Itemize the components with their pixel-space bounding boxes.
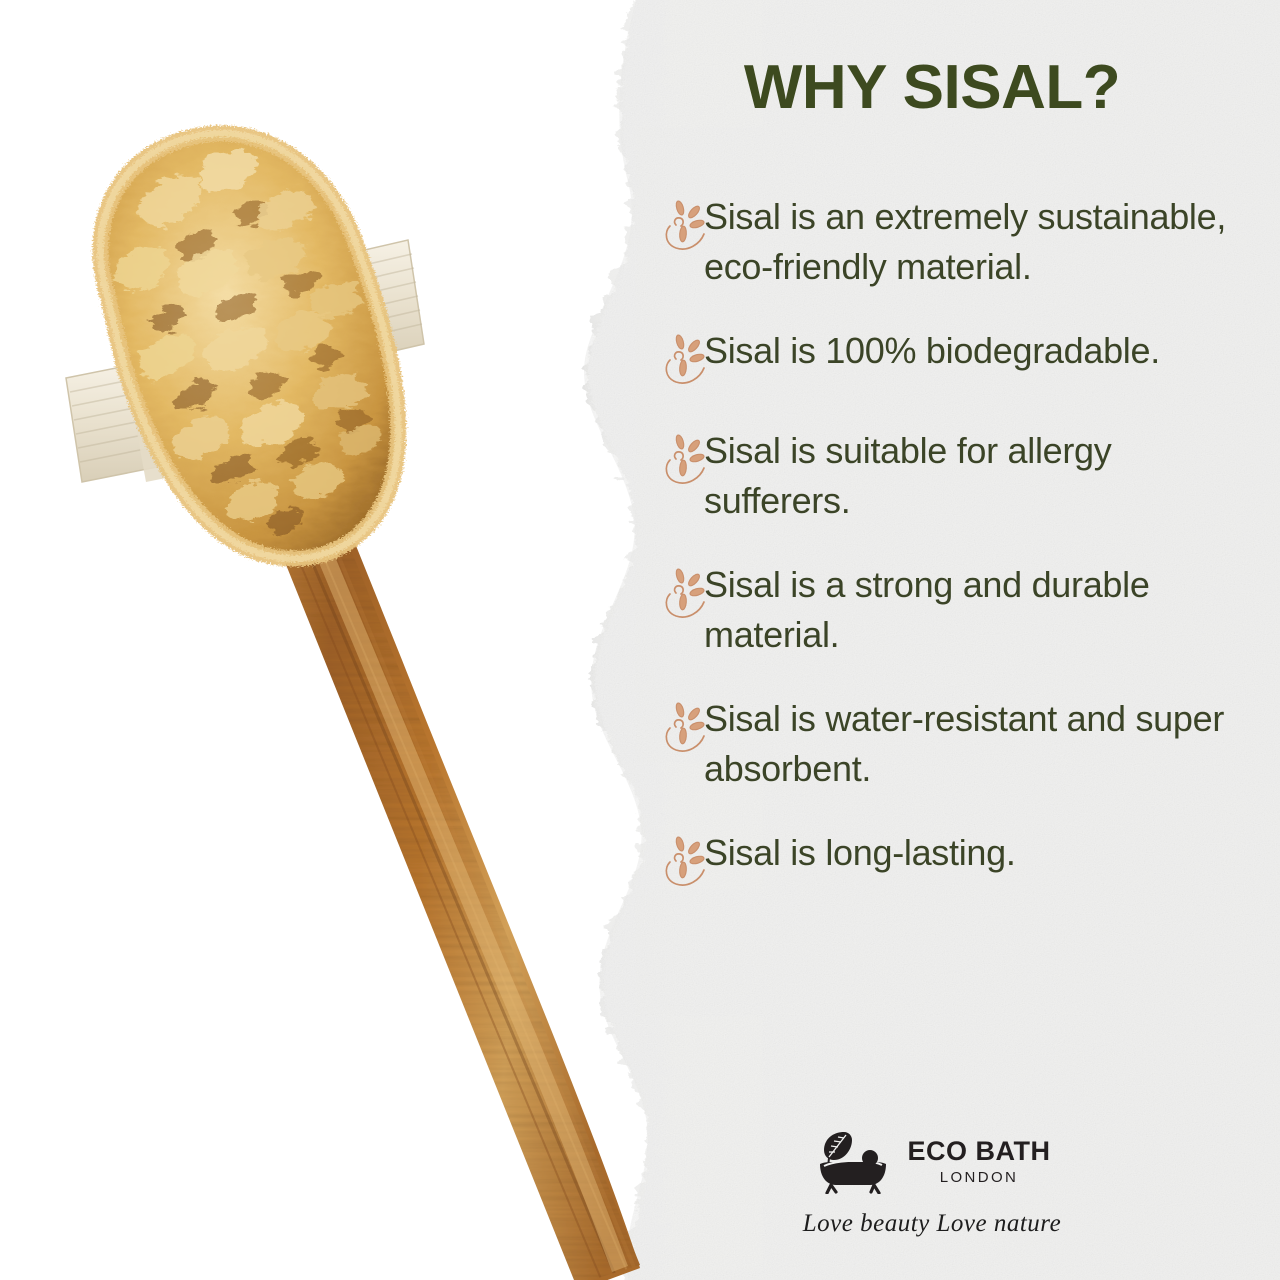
page-title: WHY SISAL? xyxy=(640,52,1224,123)
list-item-label: Sisal is 100% biodegradable. xyxy=(704,326,1262,376)
brush-strap xyxy=(66,240,424,482)
logo-row: ECO BATH LONDON xyxy=(814,1128,1051,1194)
list-item: Sisal is 100% biodegradable. xyxy=(662,326,1262,390)
logo-tagline: Love beauty Love nature xyxy=(803,1210,1061,1238)
sprout-icon xyxy=(662,834,708,892)
content-column: WHY SISAL? xyxy=(640,0,1280,1280)
brush-bristles xyxy=(100,133,398,558)
list-item: Sisal is suitable for allergy sufferers. xyxy=(662,426,1262,526)
sprout-icon xyxy=(662,566,708,624)
sprout-icon xyxy=(662,432,708,490)
list-item-label: Sisal is suitable for allergy sufferers. xyxy=(704,426,1262,526)
logo-city-name: LONDON xyxy=(940,1170,1019,1185)
list-item-label: Sisal is an extremely sustainable, eco-f… xyxy=(704,192,1262,292)
list-item: Sisal is a strong and durable material. xyxy=(662,560,1262,660)
sprout-icon xyxy=(662,700,708,758)
brush-handle xyxy=(250,480,670,1280)
list-item: Sisal is water-resistant and super absor… xyxy=(662,694,1262,794)
poster-canvas: WHY SISAL? xyxy=(0,0,1280,1280)
list-item-label: Sisal is long-lasting. xyxy=(704,828,1262,878)
benefits-list: Sisal is an extremely sustainable, eco-f… xyxy=(662,192,1262,928)
product-image-sisal-body-brush xyxy=(0,0,700,1280)
sprout-icon xyxy=(662,332,708,390)
logo-wordmark: ECO BATH LONDON xyxy=(908,1138,1051,1185)
logo-brand-name: ECO BATH xyxy=(908,1138,1051,1165)
list-item-label: Sisal is water-resistant and super absor… xyxy=(704,694,1262,794)
brush-head-wood xyxy=(107,149,390,548)
sprout-icon xyxy=(662,198,708,256)
brand-logo: ECO BATH LONDON Love beauty Love nature xyxy=(640,1128,1224,1238)
bathtub-leaf-icon xyxy=(814,1128,894,1194)
list-item: Sisal is an extremely sustainable, eco-f… xyxy=(662,192,1262,292)
list-item: Sisal is long-lasting. xyxy=(662,828,1262,892)
list-item-label: Sisal is a strong and durable material. xyxy=(704,560,1262,660)
